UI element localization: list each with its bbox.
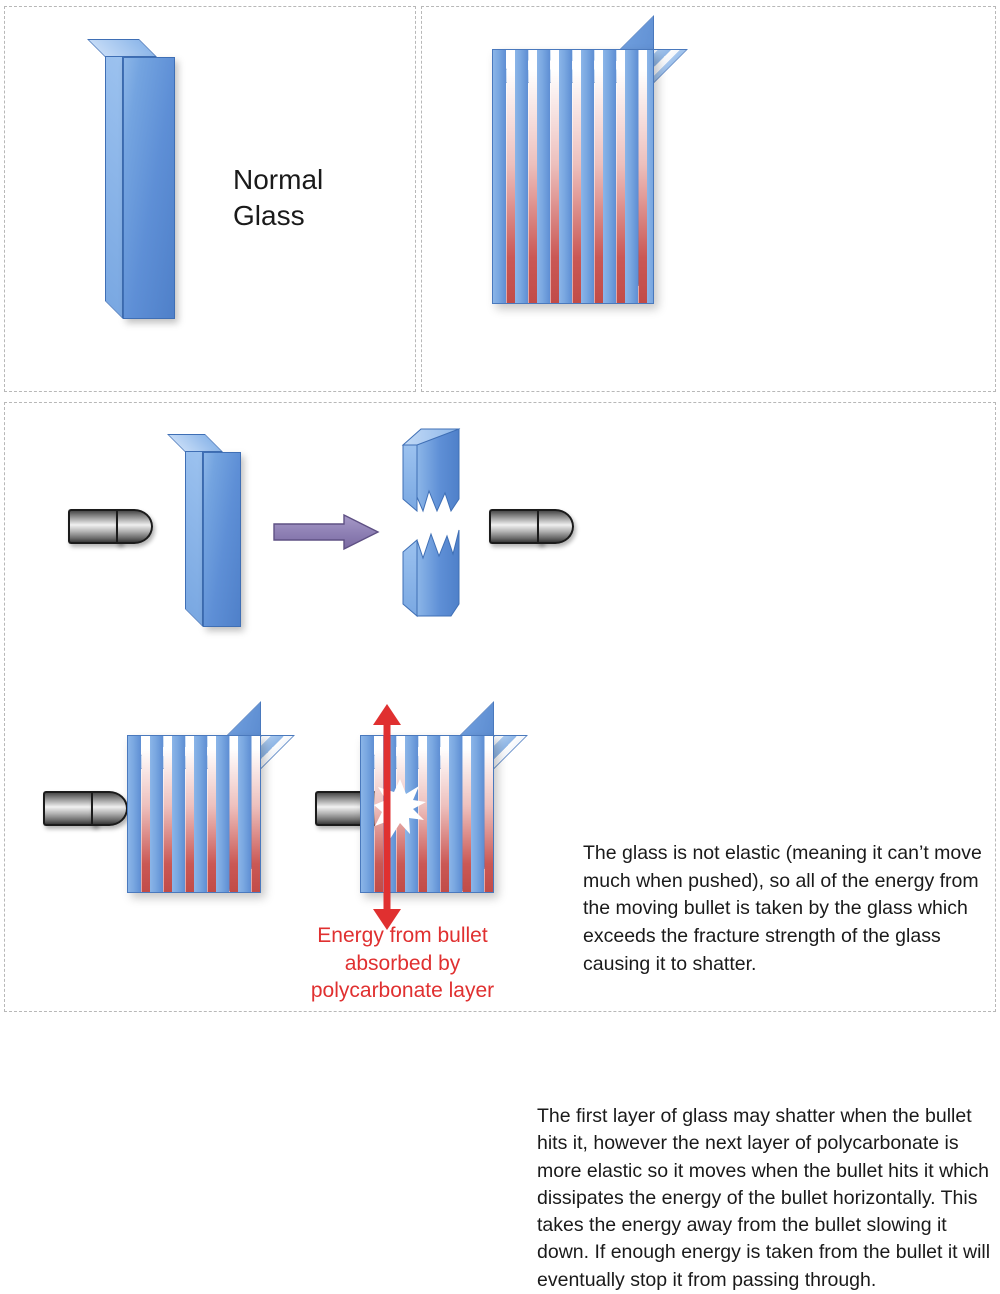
block-front-face bbox=[127, 735, 261, 893]
panel-bullet-proof-glass: Bullet proof glass consisting of normal … bbox=[421, 6, 996, 392]
glass-pane-front-face bbox=[123, 57, 175, 319]
block-front-face bbox=[492, 49, 654, 304]
shattered-glass-pane-lower bbox=[401, 526, 471, 621]
panel-process: The glass is not elastic (meaning it can… bbox=[4, 402, 996, 1012]
resin-layers bbox=[493, 50, 653, 303]
energy-caption: Energy from bullet absorbed by polycarbo… bbox=[265, 922, 540, 1005]
bullet-row1-right bbox=[489, 509, 574, 544]
paragraph-glass-shatter: The glass is not elastic (meaning it can… bbox=[583, 840, 993, 978]
glass-pane-left-side bbox=[185, 434, 203, 627]
glass-pane-front-face bbox=[203, 452, 241, 627]
bullet-proof-glass-block bbox=[492, 49, 654, 304]
glass-pane-left-side bbox=[105, 39, 123, 319]
normal-glass-label-line2: Glass bbox=[233, 198, 403, 234]
bullet-body bbox=[489, 509, 543, 544]
energy-caption-line-1: absorbed by bbox=[265, 950, 540, 978]
bullet-row2-left bbox=[43, 791, 128, 826]
glass-pane-top-face bbox=[87, 39, 157, 57]
energy-arrow-icon bbox=[370, 703, 404, 931]
laminated-block-intact bbox=[127, 735, 261, 893]
paragraph-energy-absorption: The first layer of glass may shatter whe… bbox=[537, 1103, 997, 1294]
energy-caption-line-0: Energy from bullet bbox=[265, 922, 540, 950]
bullet-nose bbox=[116, 509, 153, 544]
resin-layers bbox=[128, 736, 260, 892]
bullet-body bbox=[68, 509, 122, 544]
energy-caption-line-2: polycarbonate layer bbox=[265, 977, 540, 1005]
panel-normal-glass: Normal Glass bbox=[4, 6, 416, 392]
normal-glass-label: Normal Glass bbox=[233, 162, 403, 235]
bullet-nose bbox=[537, 509, 574, 544]
process-arrow-icon bbox=[272, 513, 382, 551]
glass-pane-top-face bbox=[167, 434, 223, 452]
shattered-glass-pane-upper bbox=[401, 427, 471, 522]
intact-glass-pane-row1 bbox=[185, 434, 223, 609]
bullet-body bbox=[43, 791, 97, 826]
normal-glass-label-line1: Normal bbox=[233, 162, 403, 198]
bullet-row1-left bbox=[68, 509, 153, 544]
bullet-nose bbox=[91, 791, 128, 826]
normal-glass-pane bbox=[105, 39, 157, 301]
